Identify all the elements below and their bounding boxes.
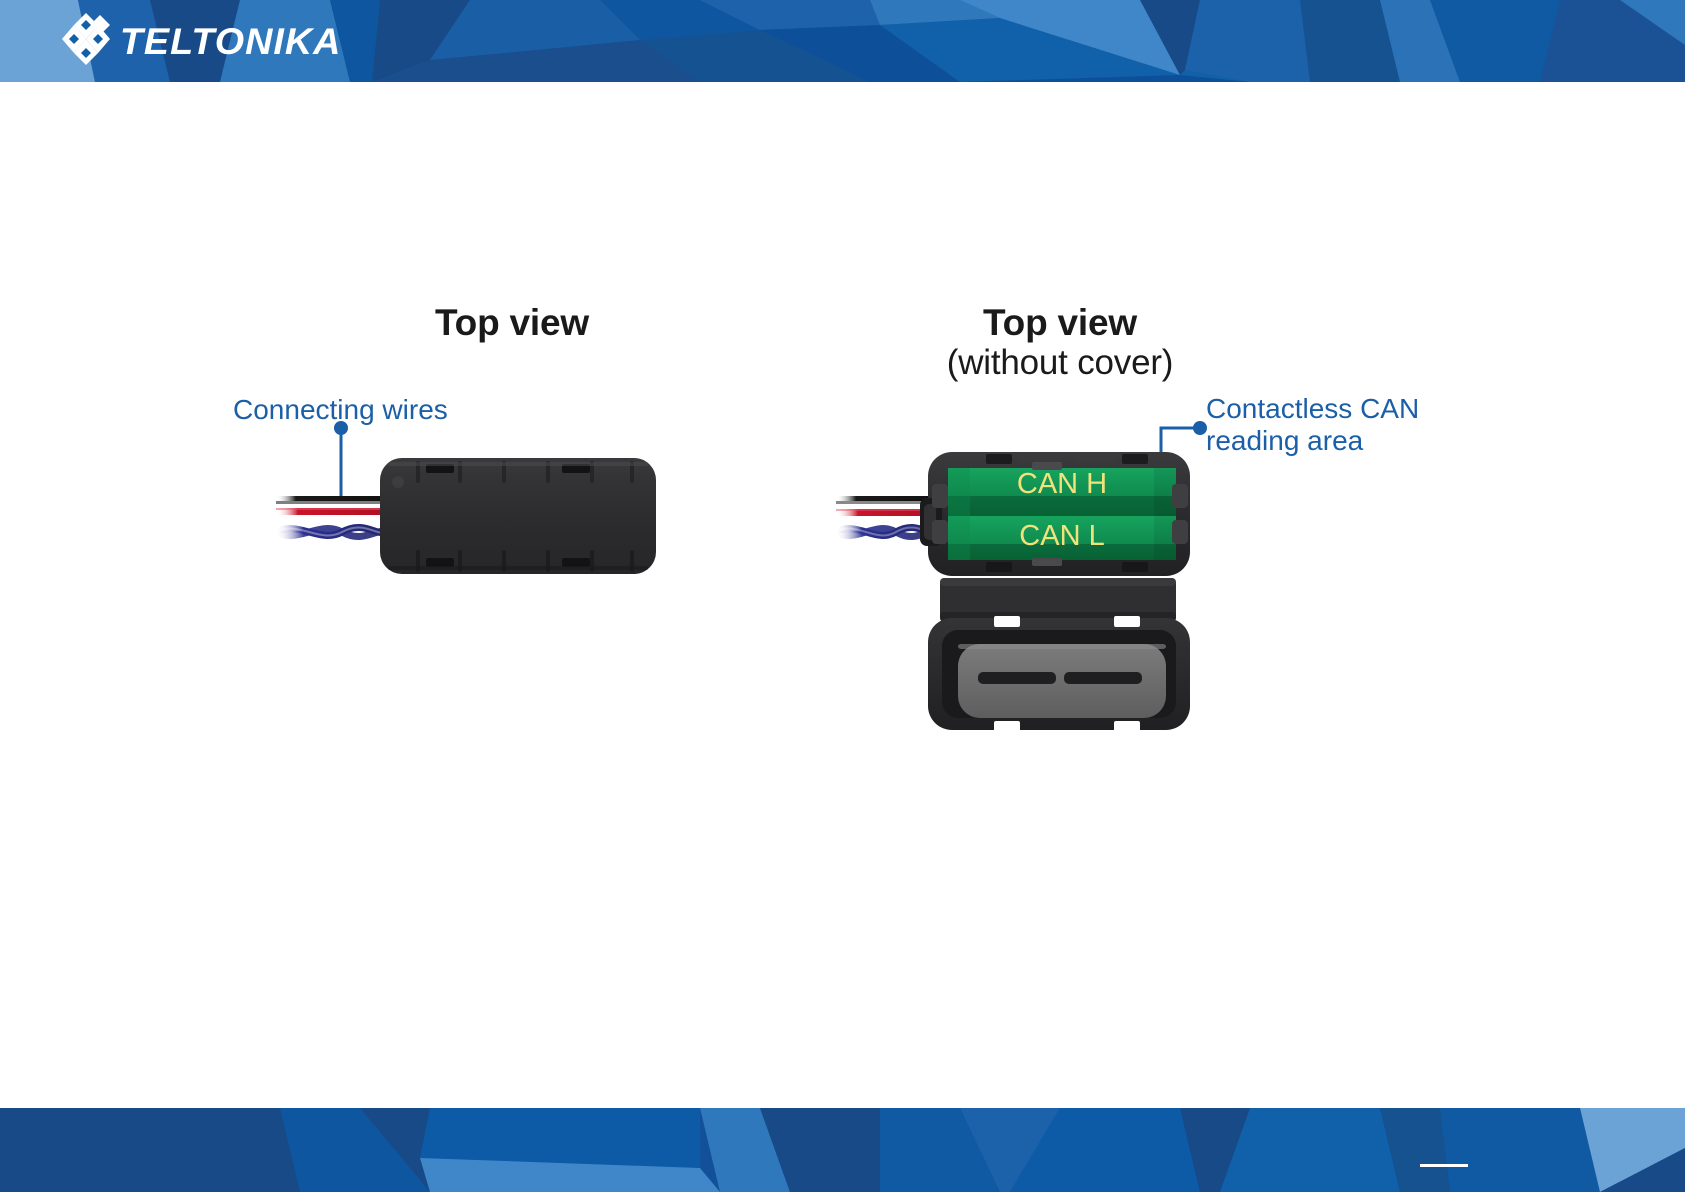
chevron-mark-svg [60,13,116,65]
adapter-body-left [380,458,656,574]
alignment-notch-left [994,616,1020,627]
footer-banner [0,1108,1685,1192]
title-main-left: Top view [312,302,712,343]
connector-slot-left [978,672,1056,684]
bottom-slot-1 [426,558,454,567]
latch-left-top [932,484,948,508]
device-can-adapter-closed [276,440,666,590]
latch-left-bottom [932,520,948,544]
footer-polygon-pattern [0,1108,1685,1192]
page-title-right: Top view (without cover) [860,302,1260,383]
wire-bundle-left [276,496,386,537]
alignment-notch-bottom-left [994,721,1020,732]
bottom-slot-2 [562,558,590,567]
alignment-notch-right [1114,616,1140,627]
title-main-right: Top view [860,302,1260,343]
adapter-bottom-shell [928,616,1190,732]
alignment-notch-bottom-right [1114,721,1140,732]
teltonika-logo: TELTONIKA [60,14,339,68]
callout-contactless-can-reading-area: Contactless CAN reading area [1206,393,1419,457]
device-left-svg [276,440,666,590]
adapter-top-shell: CAN H CAN L [920,452,1190,576]
latch-right-top [1172,484,1188,508]
device-right-svg: CAN H CAN L [836,440,1206,740]
page-title-left: Top view [312,302,712,343]
connector-slot-right [1064,672,1142,684]
teltonika-wordmark: TELTONIKA [120,23,342,60]
adapter-hinge [940,578,1176,622]
device-can-adapter-open: CAN H CAN L [836,440,1206,740]
pcb-label-can-l: CAN L [1019,520,1104,552]
title-sub-right: (without cover) [860,343,1260,382]
latch-right-bottom [1172,520,1188,544]
teltonika-chevrons-logo [60,13,116,70]
pcb-label-can-h: CAN H [1017,468,1107,500]
